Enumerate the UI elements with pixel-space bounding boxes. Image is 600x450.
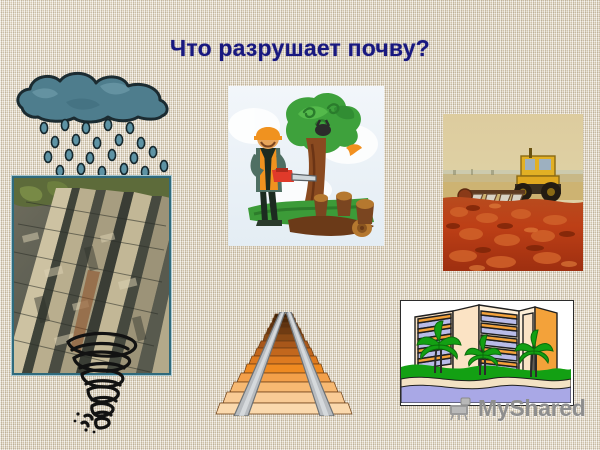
slide-title: Что разрушает почву? [0,35,600,62]
rain-cloud-image [8,62,178,187]
logging-illustration [228,86,384,246]
ploughing-field-illustration [443,114,583,271]
tornado-drawing [58,328,150,436]
rain-cloud-icon [8,62,178,187]
tractor-ploughing-photo [443,114,583,271]
presentation-slide: Что разрушает почву? [0,0,600,450]
watermark-text: MyShared [478,395,586,422]
deforestation-image [228,86,384,246]
hotel-building-clipart [401,301,571,403]
watermark: MyShared [448,395,586,422]
hotel-construction-image [400,300,574,406]
railway-track-icon [214,312,354,416]
tornado-icon [58,328,150,436]
railway-track-image [214,312,354,416]
projector-icon [448,397,474,421]
